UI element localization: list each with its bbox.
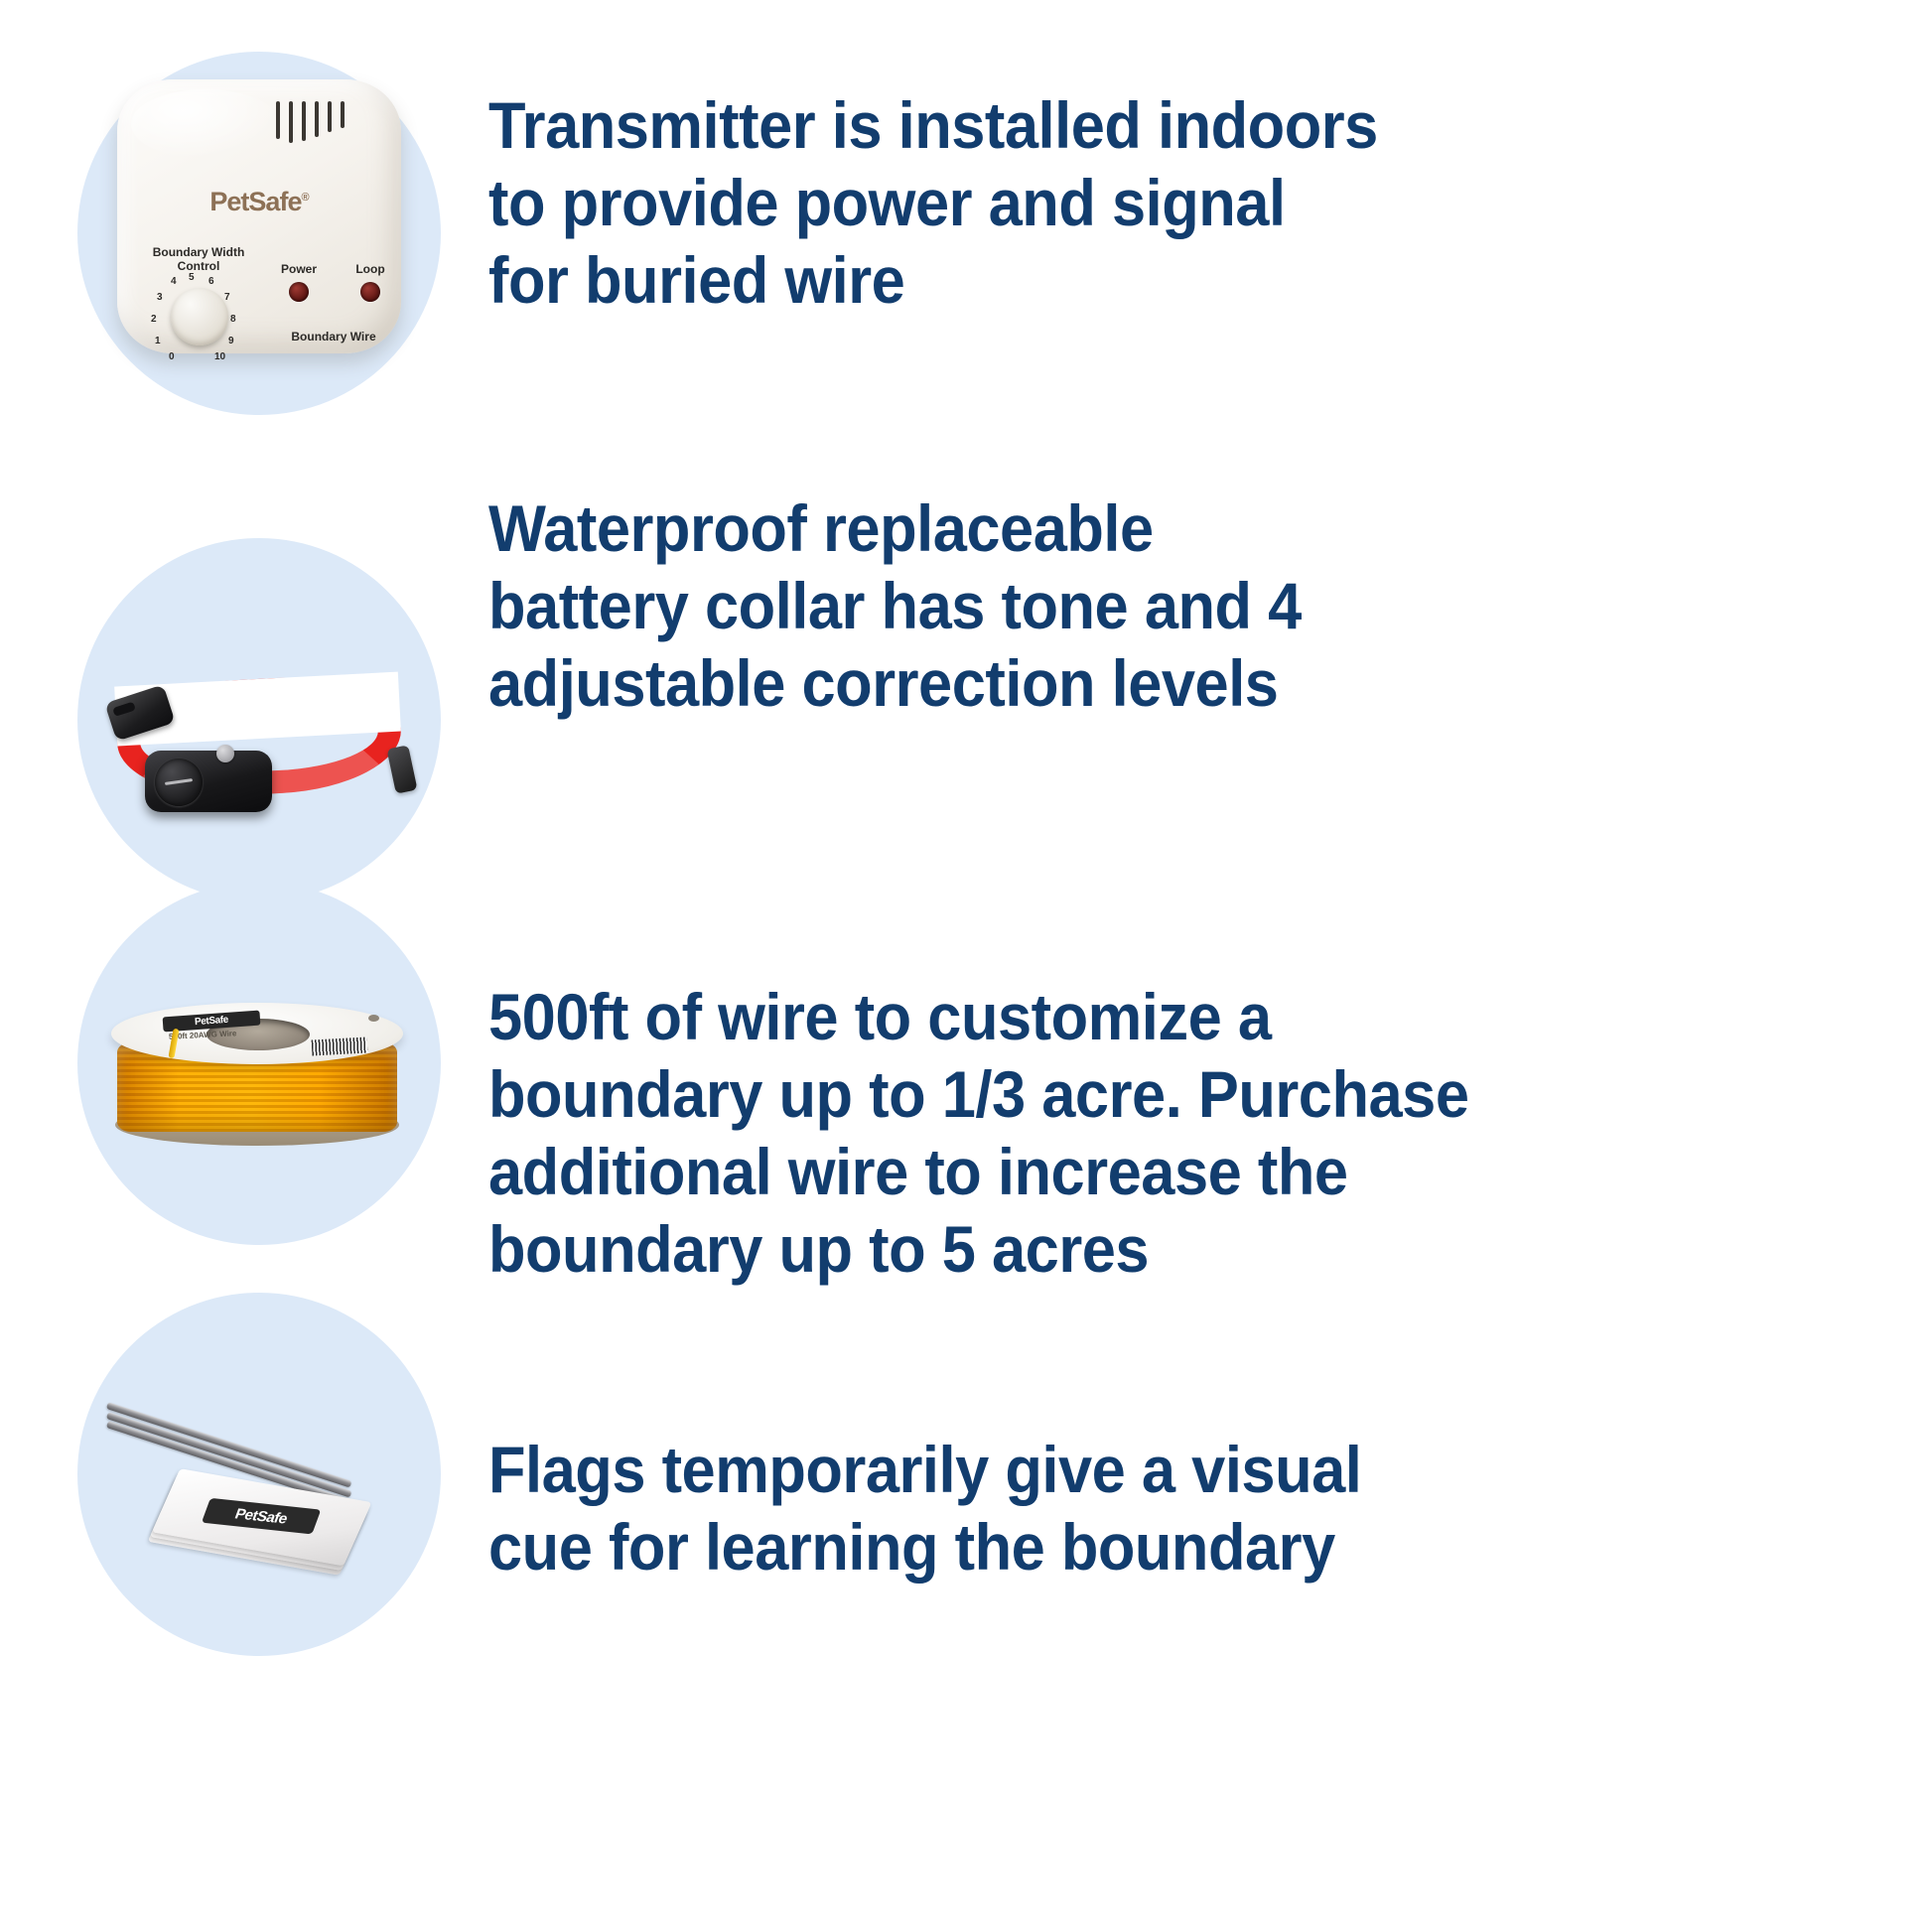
dial-tick-0: 0	[169, 351, 175, 362]
caption-line: Transmitter is installed indoors	[488, 87, 1449, 165]
dial-tick-3: 3	[157, 292, 163, 303]
loop-indicator: Loop	[347, 262, 393, 302]
dial-tick-8: 8	[230, 314, 236, 325]
transmitter-photo: PetSafe® Boundary Width Control 5 4 6 3 …	[77, 52, 441, 415]
vent-grille-icon	[276, 101, 367, 145]
feature-row-collar: Waterproof replaceable battery collar ha…	[0, 437, 1932, 834]
feature-row-flags: PetSafe Flags temporarily give a visual …	[0, 1241, 1932, 1668]
dial-tick-2: 2	[151, 314, 157, 325]
caption-line: Flags temporarily give a visual	[488, 1432, 1467, 1509]
power-led-icon	[289, 282, 309, 302]
feature-row-wire: PetSafe 500ft 20AWG Wire 500ft of wire t…	[0, 824, 1932, 1291]
correction-level-dial	[155, 759, 203, 806]
dial-tick-9: 9	[228, 336, 234, 346]
caption-line: battery collar has tone and 4	[488, 568, 1421, 645]
power-indicator: Power	[276, 262, 322, 302]
loop-led-icon	[360, 282, 380, 302]
dial-knob[interactable]	[171, 288, 228, 345]
flag-bundle: PetSafe	[85, 1368, 433, 1596]
collar-slider	[386, 745, 417, 794]
boundary-wire-label: Boundary Wire	[266, 330, 401, 344]
transmitter-brand-logo: PetSafe®	[117, 187, 401, 217]
feature-caption-flags: Flags temporarily give a visual cue for …	[488, 1432, 1467, 1587]
dial-tick-7: 7	[224, 292, 230, 303]
dial-label: Boundary Width Control	[137, 246, 260, 274]
spool-hole	[368, 1015, 379, 1022]
dial-tick-6: 6	[208, 276, 214, 287]
collar-receiver-module	[145, 751, 272, 812]
flag-brand-logo: PetSafe	[202, 1498, 321, 1535]
wire-spool: PetSafe 500ft 20AWG Wire	[109, 1001, 407, 1150]
dial-tick-1: 1	[155, 336, 161, 346]
caption-line: 500ft of wire to customize a	[488, 979, 1532, 1056]
power-label: Power	[276, 262, 322, 276]
caption-line: additional wire to increase the	[488, 1134, 1532, 1211]
caption-line: adjustable correction levels	[488, 645, 1421, 723]
contact-probe-icon	[216, 745, 234, 762]
feature-caption-transmitter: Transmitter is installed indoors to prov…	[488, 87, 1449, 320]
spool-top-flange: PetSafe 500ft 20AWG Wire	[111, 1003, 403, 1064]
boundary-flags-photo: PetSafe	[77, 1293, 441, 1656]
feature-list: PetSafe® Boundary Width Control 5 4 6 3 …	[0, 0, 1932, 1932]
loop-label: Loop	[347, 262, 393, 276]
caption-line: for buried wire	[488, 242, 1449, 320]
feature-row-transmitter: PetSafe® Boundary Width Control 5 4 6 3 …	[0, 0, 1932, 467]
dial-tick-4: 4	[171, 276, 177, 287]
caption-line: boundary up to 1/3 acre. Purchase	[488, 1056, 1532, 1134]
wire-spool-photo: PetSafe 500ft 20AWG Wire	[77, 882, 441, 1245]
feature-caption-collar: Waterproof replaceable battery collar ha…	[488, 490, 1421, 723]
flag-rod	[106, 1402, 352, 1487]
dial-tick-5: 5	[189, 272, 195, 283]
caption-line: cue for learning the boundary	[488, 1509, 1467, 1587]
transmitter-body: PetSafe® Boundary Width Control 5 4 6 3 …	[117, 79, 401, 353]
transmitter-gloss	[131, 89, 280, 159]
boundary-width-dial[interactable]: 5 4 6 3 7 2 8 1 9 0 10	[153, 274, 244, 365]
barcode-icon	[312, 1037, 368, 1056]
dial-tick-10: 10	[214, 351, 225, 362]
caption-line: Waterproof replaceable	[488, 490, 1421, 568]
collar-assembly	[95, 655, 423, 824]
caption-line: to provide power and signal	[488, 165, 1449, 242]
